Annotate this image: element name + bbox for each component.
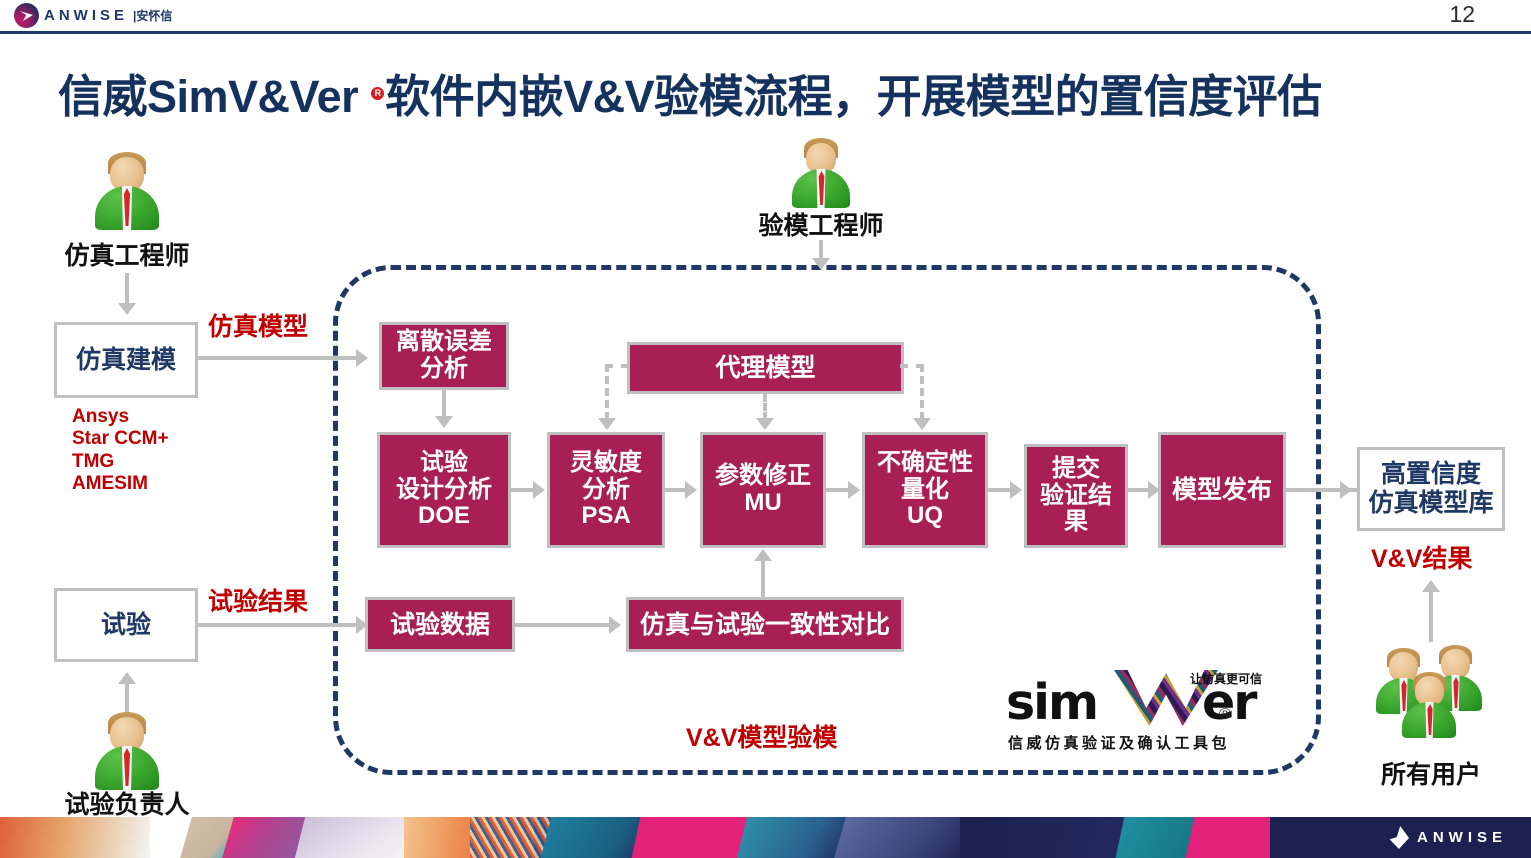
label-vv-result: V&V结果 [1371, 545, 1472, 575]
label-sim-engineer: 仿真工程师 [55, 236, 199, 272]
page-title: 信威SimV&Ver R软件内嵌V&V验模流程，开展模型的置信度评估 [58, 60, 1478, 125]
arrowhead-right-doe [533, 481, 545, 499]
label-vv-container: V&V模型验模 [686, 724, 837, 754]
connector-consistency-to-mu [761, 560, 765, 597]
anwise-header-logo: ANWISE |安怀信 [14, 3, 172, 28]
dashed-connector-surrogate-mid-v [763, 394, 767, 420]
box-uq[interactable]: 不确定性 量化 UQ [862, 432, 988, 548]
connector-doe-to-psa [511, 488, 535, 492]
label-test-owner: 试验负责人 [55, 785, 199, 821]
title-part1: 信威SimV&Ver [58, 71, 370, 122]
box-test-data[interactable]: 试验数据 [365, 597, 515, 652]
arrowhead-up-users [1422, 580, 1440, 592]
connector-psa-to-mu [665, 488, 687, 492]
brand-name-cn: |安怀信 [133, 7, 172, 24]
label-all-users: 所有用户 [1357, 755, 1505, 791]
connector-mu-to-uq [826, 488, 850, 492]
arrowhead-right-uq [1010, 481, 1022, 499]
connector-users-to-library [1429, 592, 1433, 642]
edge-label-test-result: 试验结果 [208, 588, 308, 618]
connector-submit-to-release [1128, 488, 1150, 492]
connector-discrete-to-doe [442, 390, 446, 418]
box-submit-validation-result[interactable]: 提交 验证结 果 [1024, 444, 1128, 548]
footer-brand-name: ANWISE [1417, 829, 1507, 846]
simvver-word-left: sim [1006, 674, 1097, 731]
arrowhead-down-surrogate-psa [598, 418, 616, 430]
box-surrogate-model-label: 代理模型 [715, 354, 815, 382]
box-model-release[interactable]: 模型发布 [1158, 432, 1286, 548]
edge-label-sim-model: 仿真模型 [208, 313, 308, 343]
anwise-flame-icon [1388, 826, 1409, 849]
simvver-tagline: 让仿真更可信 [1190, 670, 1262, 687]
arrowhead-down-surrogate-uq [913, 418, 931, 430]
box-doe[interactable]: 试验 设计分析 DOE [377, 432, 511, 548]
box-psa-label: 灵敏度 分析 PSA [570, 450, 642, 531]
page-number: 12 [1449, 1, 1475, 28]
slide-header: ANWISE |安怀信 12 [0, 0, 1531, 31]
connector-uq-to-submit [988, 488, 1012, 492]
arrowhead-up-consistency [754, 549, 772, 561]
box-test-data-label: 试验数据 [390, 611, 490, 639]
box-consistency-label: 仿真与试验一致性对比 [640, 611, 890, 639]
box-test-label: 试验 [101, 611, 151, 640]
avatar-user-3 [1397, 672, 1461, 738]
avatar-sim-engineer [88, 152, 166, 230]
connector-test-to-testdata [198, 623, 356, 627]
box-sim-modeling-label: 仿真建模 [76, 346, 176, 375]
header-divider [0, 31, 1531, 34]
arrowhead-down-surrogate-mu [756, 418, 774, 430]
arrowhead-down-vveng [812, 258, 830, 270]
title-part2: 软件内嵌V&V验模流程，开展模型的置信度评估 [385, 71, 1322, 122]
footer-pattern-5 [295, 817, 415, 858]
footer-pattern-1 [0, 817, 150, 858]
avatar-test-owner [88, 712, 166, 790]
arrowhead-right-testdata [609, 616, 621, 634]
arrowhead-down-simeng [118, 303, 136, 315]
box-mu[interactable]: 参数修正 MU [700, 432, 826, 548]
label-vv-engineer: 验模工程师 [746, 206, 896, 242]
arrowhead-right-release [1340, 481, 1352, 499]
box-mu-label: 参数修正 MU [715, 463, 811, 517]
box-discrete-error-analysis[interactable]: 离散误差 分析 [379, 322, 509, 390]
arrowhead-right-psa [685, 481, 697, 499]
slide-footer: ANWISE [0, 817, 1531, 858]
avatar-vv-engineer [786, 138, 856, 208]
connector-testowner-to-test [125, 684, 129, 714]
box-uq-label: 不确定性 量化 UQ [877, 450, 973, 531]
dashed-connector-surrogate-right-v [920, 364, 924, 420]
arrowhead-up-testowner [118, 672, 136, 684]
box-doe-label: 试验 设计分析 DOE [396, 450, 492, 531]
box-psa[interactable]: 灵敏度 分析 PSA [547, 432, 665, 548]
box-sim-modeling[interactable]: 仿真建模 [54, 322, 198, 398]
registered-mark-icon: R [371, 87, 384, 100]
box-submit-result-label: 提交 验证结 果 [1040, 456, 1112, 537]
box-model-library[interactable]: 高置信度 仿真模型库 [1357, 447, 1505, 531]
brand-name: ANWISE [44, 8, 128, 23]
anwise-logo-icon [14, 3, 39, 28]
dashed-connector-surrogate-left-v [605, 364, 609, 420]
box-consistency-comparison[interactable]: 仿真与试验一致性对比 [626, 597, 904, 652]
footer-anwise-logo: ANWISE [1388, 826, 1507, 849]
connector-simeng-to-modeling [125, 273, 129, 305]
connector-testdata-to-consistency [515, 623, 611, 627]
simvver-subtitle: 信威仿真验证及确认工具包 [1008, 732, 1230, 753]
arrowhead-down-discrete [435, 416, 453, 428]
box-discrete-error-label: 离散误差 分析 [396, 329, 492, 383]
simvver-registered-icon: ® [1219, 706, 1231, 724]
box-test[interactable]: 试验 [54, 588, 198, 662]
box-model-release-label: 模型发布 [1172, 476, 1272, 504]
arrowhead-right-mu [848, 481, 860, 499]
simvver-logo: sim er 让仿真更可信 ® 信威仿真验证及确认工具包 [1006, 668, 1268, 760]
tools-list: Ansys Star CCM+ TMG AMESIM [72, 406, 242, 496]
arrowhead-right-modeling [356, 349, 368, 367]
connector-modeling-to-discrete [198, 356, 356, 360]
footer-pattern-12 [960, 817, 1140, 858]
slide-root: ANWISE |安怀信 12 信威SimV&Ver R软件内嵌V&V验模流程，开… [0, 0, 1531, 858]
box-model-library-label: 高置信度 仿真模型库 [1368, 460, 1493, 518]
box-surrogate-model[interactable]: 代理模型 [627, 342, 904, 394]
